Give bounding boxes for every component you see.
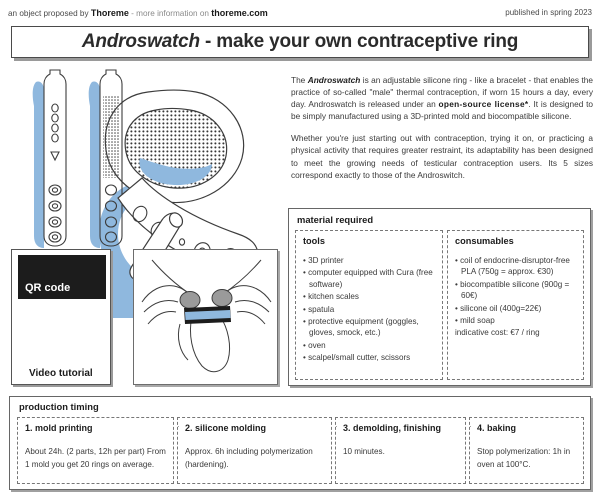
consumables-list: coil of endocrine-disruptor-free PLA (75… — [455, 255, 577, 326]
step-title: 1. mold printing — [25, 423, 167, 433]
step-text: Approx. 6h including polymerization (har… — [185, 446, 325, 471]
title-bar: Androswatch - make your own contraceptiv… — [11, 26, 589, 58]
desc-product-name: Androswatch — [308, 75, 361, 85]
step-text: 10 minutes. — [343, 446, 459, 459]
tools-column: tools 3D printer computer equipped with … — [295, 230, 443, 380]
material-columns: tools 3D printer computer equipped with … — [295, 230, 584, 380]
list-item: protective equipment (goggles, gloves, s… — [303, 316, 436, 339]
production-step-4: 4. baking Stop polymerization: 1h in ove… — [469, 417, 584, 484]
anatomy-left — [180, 292, 200, 309]
page-title: Androswatch - make your own contraceptiv… — [82, 31, 518, 53]
qr-code-label: QR code — [25, 282, 70, 294]
production-steps: 1. mold printing About 24h. (2 parts, 12… — [17, 417, 584, 484]
consumables-column: consumables coil of endocrine-disruptor-… — [447, 230, 584, 380]
material-required-heading: material required — [297, 214, 373, 225]
brand-name: Thoreme — [91, 8, 129, 18]
list-item: computer equipped with Cura (free softwa… — [303, 267, 436, 290]
video-tutorial-caption: Video tutorial — [29, 367, 109, 380]
video-tutorial-panel[interactable]: QR code Video tutorial — [11, 249, 111, 385]
byline: an object proposed by Thoreme - more inf… — [8, 6, 592, 20]
material-required-box: material required tools 3D printer compu… — [288, 208, 591, 386]
website-link[interactable]: thoreme.com — [211, 8, 268, 18]
description-paragraph-1: The Androswatch is an adjustable silicon… — [291, 74, 593, 122]
list-item: oven — [303, 340, 436, 351]
step-text: About 24h. (2 parts, 12h per part) From … — [25, 446, 167, 471]
production-step-3: 3. demolding, finishing 10 minutes. — [335, 417, 466, 484]
production-timing-box: production timing 1. mold printing About… — [9, 396, 591, 490]
list-item: mild soap — [455, 315, 577, 326]
list-item: 3D printer — [303, 255, 436, 266]
byline-separator: - more information on — [129, 9, 211, 18]
desc-p1-a: The — [291, 75, 308, 85]
step-text: Stop polymerization: 1h in oven at 100°C… — [477, 446, 577, 471]
consumables-heading: consumables — [455, 236, 577, 246]
usage-photo-panel — [133, 249, 278, 385]
title-product-name: Androswatch — [82, 31, 200, 52]
arrow-right-icon — [469, 422, 472, 431]
step-title: 3. demolding, finishing — [343, 423, 459, 433]
list-item: spatula — [303, 304, 436, 315]
arrow-right-icon — [335, 422, 338, 431]
list-item: kitchen scales — [303, 291, 436, 302]
strip-shadow-right — [89, 81, 100, 248]
description-paragraph-2: Whether you're just starting out with co… — [291, 132, 593, 180]
tools-list: 3D printer computer equipped with Cura (… — [303, 255, 436, 364]
indicative-cost-note: indicative cost: €7 / ring — [455, 327, 577, 338]
desc-license-term: open-source license* — [438, 99, 528, 109]
list-item: silicone oil (400g=22€) — [455, 303, 577, 314]
byline-prefix: an object proposed by — [8, 9, 91, 18]
production-timing-heading: production timing — [19, 401, 99, 412]
step-title: 4. baking — [477, 423, 577, 433]
list-item: coil of endocrine-disruptor-free PLA (75… — [455, 255, 577, 278]
poster-page: an object proposed by Thoreme - more inf… — [0, 0, 600, 500]
step-title: 2. silicone molding — [185, 423, 325, 433]
production-step-2: 2. silicone molding Approx. 6h including… — [177, 417, 332, 484]
product-description: The Androswatch is an adjustable silicon… — [291, 74, 593, 191]
published-date: published in spring 2023 — [505, 6, 592, 20]
usage-illustration-svg — [134, 250, 278, 385]
list-item: biocompatible silicone (900g = 60€) — [455, 279, 577, 302]
anatomy-right — [212, 290, 232, 307]
arrow-right-icon — [177, 422, 180, 431]
production-step-1: 1. mold printing About 24h. (2 parts, 12… — [17, 417, 174, 484]
title-tagline: - make your own contraceptive ring — [200, 31, 518, 52]
ring-strip-front-view — [44, 70, 66, 246]
strip-shadow-left — [33, 81, 44, 248]
qr-code-icon[interactable]: QR code — [18, 255, 106, 299]
list-item: scalpel/small cutter, scissors — [303, 352, 436, 363]
tools-heading: tools — [303, 236, 436, 246]
